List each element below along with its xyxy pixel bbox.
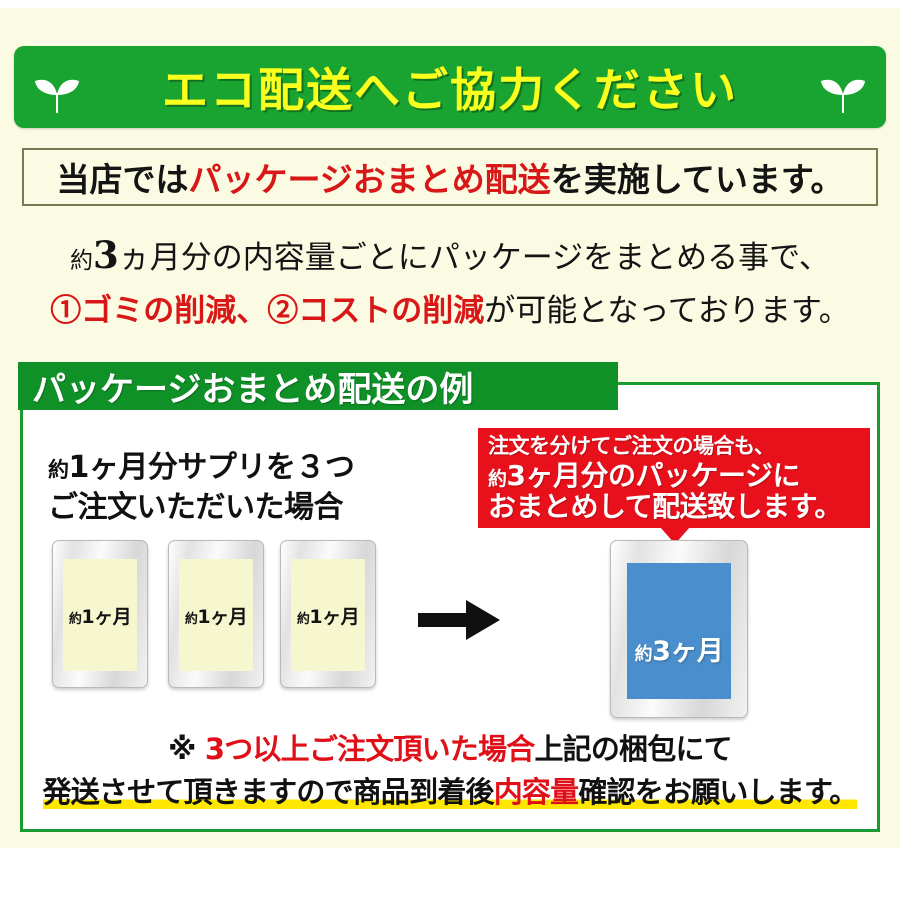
package-pouch-small: 約1ヶ月 xyxy=(52,540,148,688)
headline-text: 当店ではパッケージおまとめ配送を実施しています。 xyxy=(56,153,843,201)
red-callout-box: 注文を分けてご注文の場合も、 約3ヶ月分のパッケージに おまとめして配送致します… xyxy=(478,428,870,528)
package-label-approx: 約 xyxy=(635,644,653,665)
package-pouch-large: 約3ヶ月 xyxy=(610,540,748,718)
caption-line-1: 約1ヶ月分サプリを３つ xyxy=(48,448,458,488)
bottom-note-line2-red: 内容量 xyxy=(494,775,579,809)
package-label: 約1ヶ月 xyxy=(291,559,365,671)
eco-delivery-banner: エコ配送へご協力ください xyxy=(14,46,886,128)
package-label-text: 約1ヶ月 xyxy=(297,602,359,629)
caption-line1-text: 1ヶ月分サプリを３つ xyxy=(69,450,355,485)
package-label: 約1ヶ月 xyxy=(179,559,253,671)
section-tab-label: パッケージおまとめ配送の例 xyxy=(32,362,473,411)
package-label-approx: 約 xyxy=(185,612,198,627)
arrow-right-icon xyxy=(418,597,500,643)
section-tab: パッケージおまとめ配送の例 xyxy=(18,362,618,410)
package-label-approx: 約 xyxy=(297,612,310,627)
body-line-2: ①ゴミの削減、②コストの削減が可能となっております。 xyxy=(0,285,900,330)
order-example-caption: 約1ヶ月分サプリを３つ ご注文いただいた場合 xyxy=(48,448,458,528)
headline-box: 当店ではパッケージおまとめ配送を実施しています。 xyxy=(22,148,878,206)
headline-suffix: を実施しています。 xyxy=(551,160,844,199)
headline-prefix: 当店では xyxy=(56,160,188,199)
body-line2-benefits: ①ゴミの削減、②コストの削減 xyxy=(50,293,484,329)
bottom-note: ※ 3つ以上ご注文頂いた場合上記の梱包にて 発送させて頂きますので商品到着後内容… xyxy=(0,728,900,814)
sprout-icon xyxy=(820,73,866,113)
package-label-text: 約1ヶ月 xyxy=(185,602,247,629)
package-pouch-small: 約1ヶ月 xyxy=(168,540,264,688)
headline-emphasis: パッケージおまとめ配送 xyxy=(188,160,550,199)
bottom-note-line-2: 発送させて頂きますので商品到着後内容量確認をお願いします。 xyxy=(0,771,900,814)
bottom-note-line1-black: 上記の梱包にて xyxy=(534,732,731,766)
package-label-duration: 1ヶ月 xyxy=(81,606,131,628)
caption-line-2: ご注文いただいた場合 xyxy=(48,488,458,528)
bottom-note-line1-red: 3つ以上ご注文頂いた場合 xyxy=(205,732,535,766)
package-label-duration: 3ヶ月 xyxy=(652,636,723,667)
package-label: 約1ヶ月 xyxy=(63,559,137,671)
callout-line2-text: 3ヶ月分のパッケージに xyxy=(507,459,800,492)
package-label: 約3ヶ月 xyxy=(627,563,731,699)
bottom-note-line2-b: 確認をお願いします。 xyxy=(578,775,857,809)
package-label-duration: 1ヶ月 xyxy=(309,606,359,628)
body-line1-approx: 約 xyxy=(70,248,93,274)
body-line-1: 約3ヵ月分の内容量ごとにパッケージをまとめる事で、 xyxy=(0,232,900,277)
package-label-text: 約1ヶ月 xyxy=(69,602,131,629)
promo-page: エコ配送へご協力ください 当店ではパッケージおまとめ配送を実施しています。 約3… xyxy=(0,0,900,900)
package-label-approx: 約 xyxy=(69,612,82,627)
body-line1-number: 3 xyxy=(93,233,119,277)
package-label-duration: 1ヶ月 xyxy=(197,606,247,628)
bottom-note-line-1: ※ 3つ以上ご注文頂いた場合上記の梱包にて xyxy=(0,728,900,771)
callout-line2-approx: 約 xyxy=(488,468,507,490)
body-line1-rest: ヵ月分の内容量ごとにパッケージをまとめる事で、 xyxy=(119,240,830,276)
bottom-note-line2-a: 発送させて頂きますので商品到着後 xyxy=(43,775,494,809)
package-pouch-small: 約1ヶ月 xyxy=(280,540,376,688)
callout-line-2: 約3ヶ月分のパッケージに xyxy=(488,460,862,491)
banner-title: エコ配送へご協力ください xyxy=(162,54,738,120)
bottom-note-mark: ※ xyxy=(168,732,205,766)
callout-line-3: おまとめして配送致します。 xyxy=(488,491,862,522)
body-line2-tail: が可能となっております。 xyxy=(484,293,850,329)
callout-line-1: 注文を分けてご注文の場合も、 xyxy=(488,434,862,460)
package-label-text: 約3ヶ月 xyxy=(635,629,724,668)
sprout-icon xyxy=(34,73,80,113)
caption-line1-approx: 約 xyxy=(48,458,69,482)
